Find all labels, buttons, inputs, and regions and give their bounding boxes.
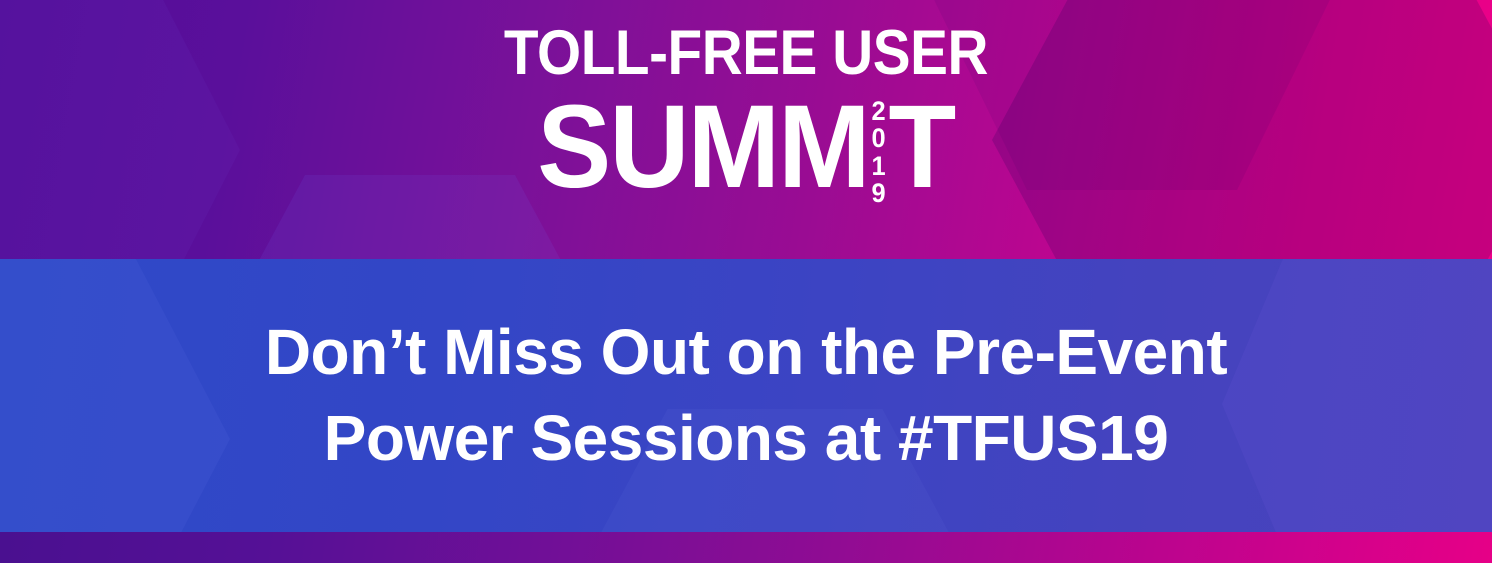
logo-year-2019: 2 0 1 9 bbox=[872, 99, 886, 207]
logo-tagline: TOLL-FREE USER bbox=[504, 22, 988, 85]
logo-year-digit-1: 2 bbox=[872, 99, 886, 125]
headline-line-1: Don’t Miss Out on the Pre-Event bbox=[40, 310, 1452, 395]
headline-text: Don’t Miss Out on the Pre-Event Power Se… bbox=[0, 310, 1492, 480]
logo-band: TOLL-FREE USER SUMM 2 0 1 9 T bbox=[0, 0, 1492, 259]
logo-summit-wordmark: SUMM 2 0 1 9 T bbox=[537, 93, 954, 207]
event-logo: TOLL-FREE USER SUMM 2 0 1 9 T bbox=[0, 0, 1492, 259]
logo-summit-prefix: SUMM bbox=[537, 93, 868, 202]
logo-summit-suffix: T bbox=[889, 93, 955, 202]
headline-line-2: Power Sessions at #TFUS19 bbox=[40, 396, 1452, 481]
headline-band: Don’t Miss Out on the Pre-Event Power Se… bbox=[0, 259, 1492, 532]
logo-year-digit-2: 0 bbox=[872, 126, 886, 152]
logo-year-digit-4: 9 bbox=[872, 181, 886, 207]
bottom-accent-strip bbox=[0, 532, 1492, 563]
event-promo-banner: TOLL-FREE USER SUMM 2 0 1 9 T Don’t Miss… bbox=[0, 0, 1492, 563]
logo-year-digit-3: 1 bbox=[872, 154, 886, 180]
